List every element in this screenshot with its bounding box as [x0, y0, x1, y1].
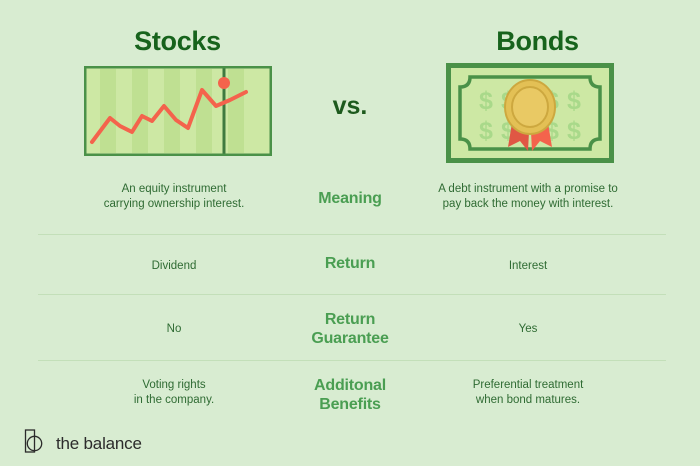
- dollar-bill-medal-icon: $ $ $ $ $ $ $ $: [446, 63, 614, 163]
- infographic-canvas: Stocks Bonds vs. $ $: [0, 0, 700, 466]
- svg-text:$: $: [479, 117, 493, 145]
- row-stocks-value: No: [38, 322, 310, 337]
- row-divider: [38, 360, 666, 361]
- brand-name: the balance: [56, 434, 142, 454]
- versus-label: vs.: [300, 92, 400, 121]
- row-divider: [38, 294, 666, 295]
- svg-text:$: $: [479, 87, 493, 115]
- row-label: Meaning: [292, 189, 408, 208]
- row-label: ReturnGuarantee: [292, 310, 408, 348]
- row-divider: [38, 234, 666, 235]
- the-balance-logo-icon: [22, 428, 48, 459]
- row-bonds-value: A debt instrument with a promise topay b…: [392, 182, 664, 212]
- row-stocks-value: An equity instrumentcarrying ownership i…: [38, 182, 310, 212]
- stock-chart-icon: [84, 66, 272, 156]
- row-bonds-value: Yes: [392, 322, 664, 337]
- svg-text:$: $: [567, 117, 581, 145]
- row-label: Return: [292, 254, 408, 273]
- column-title-bonds: Bonds: [405, 26, 670, 57]
- svg-text:$: $: [567, 87, 581, 115]
- column-title-stocks: Stocks: [60, 26, 295, 57]
- row-stocks-value: Dividend: [38, 259, 310, 274]
- row-stocks-value: Voting rightsin the company.: [38, 378, 310, 408]
- row-bonds-value: Preferential treatmentwhen bond matures.: [392, 378, 664, 408]
- row-bonds-value: Interest: [392, 259, 664, 274]
- row-label: AdditonalBenefits: [292, 376, 408, 414]
- footer-brand: the balance: [22, 428, 142, 459]
